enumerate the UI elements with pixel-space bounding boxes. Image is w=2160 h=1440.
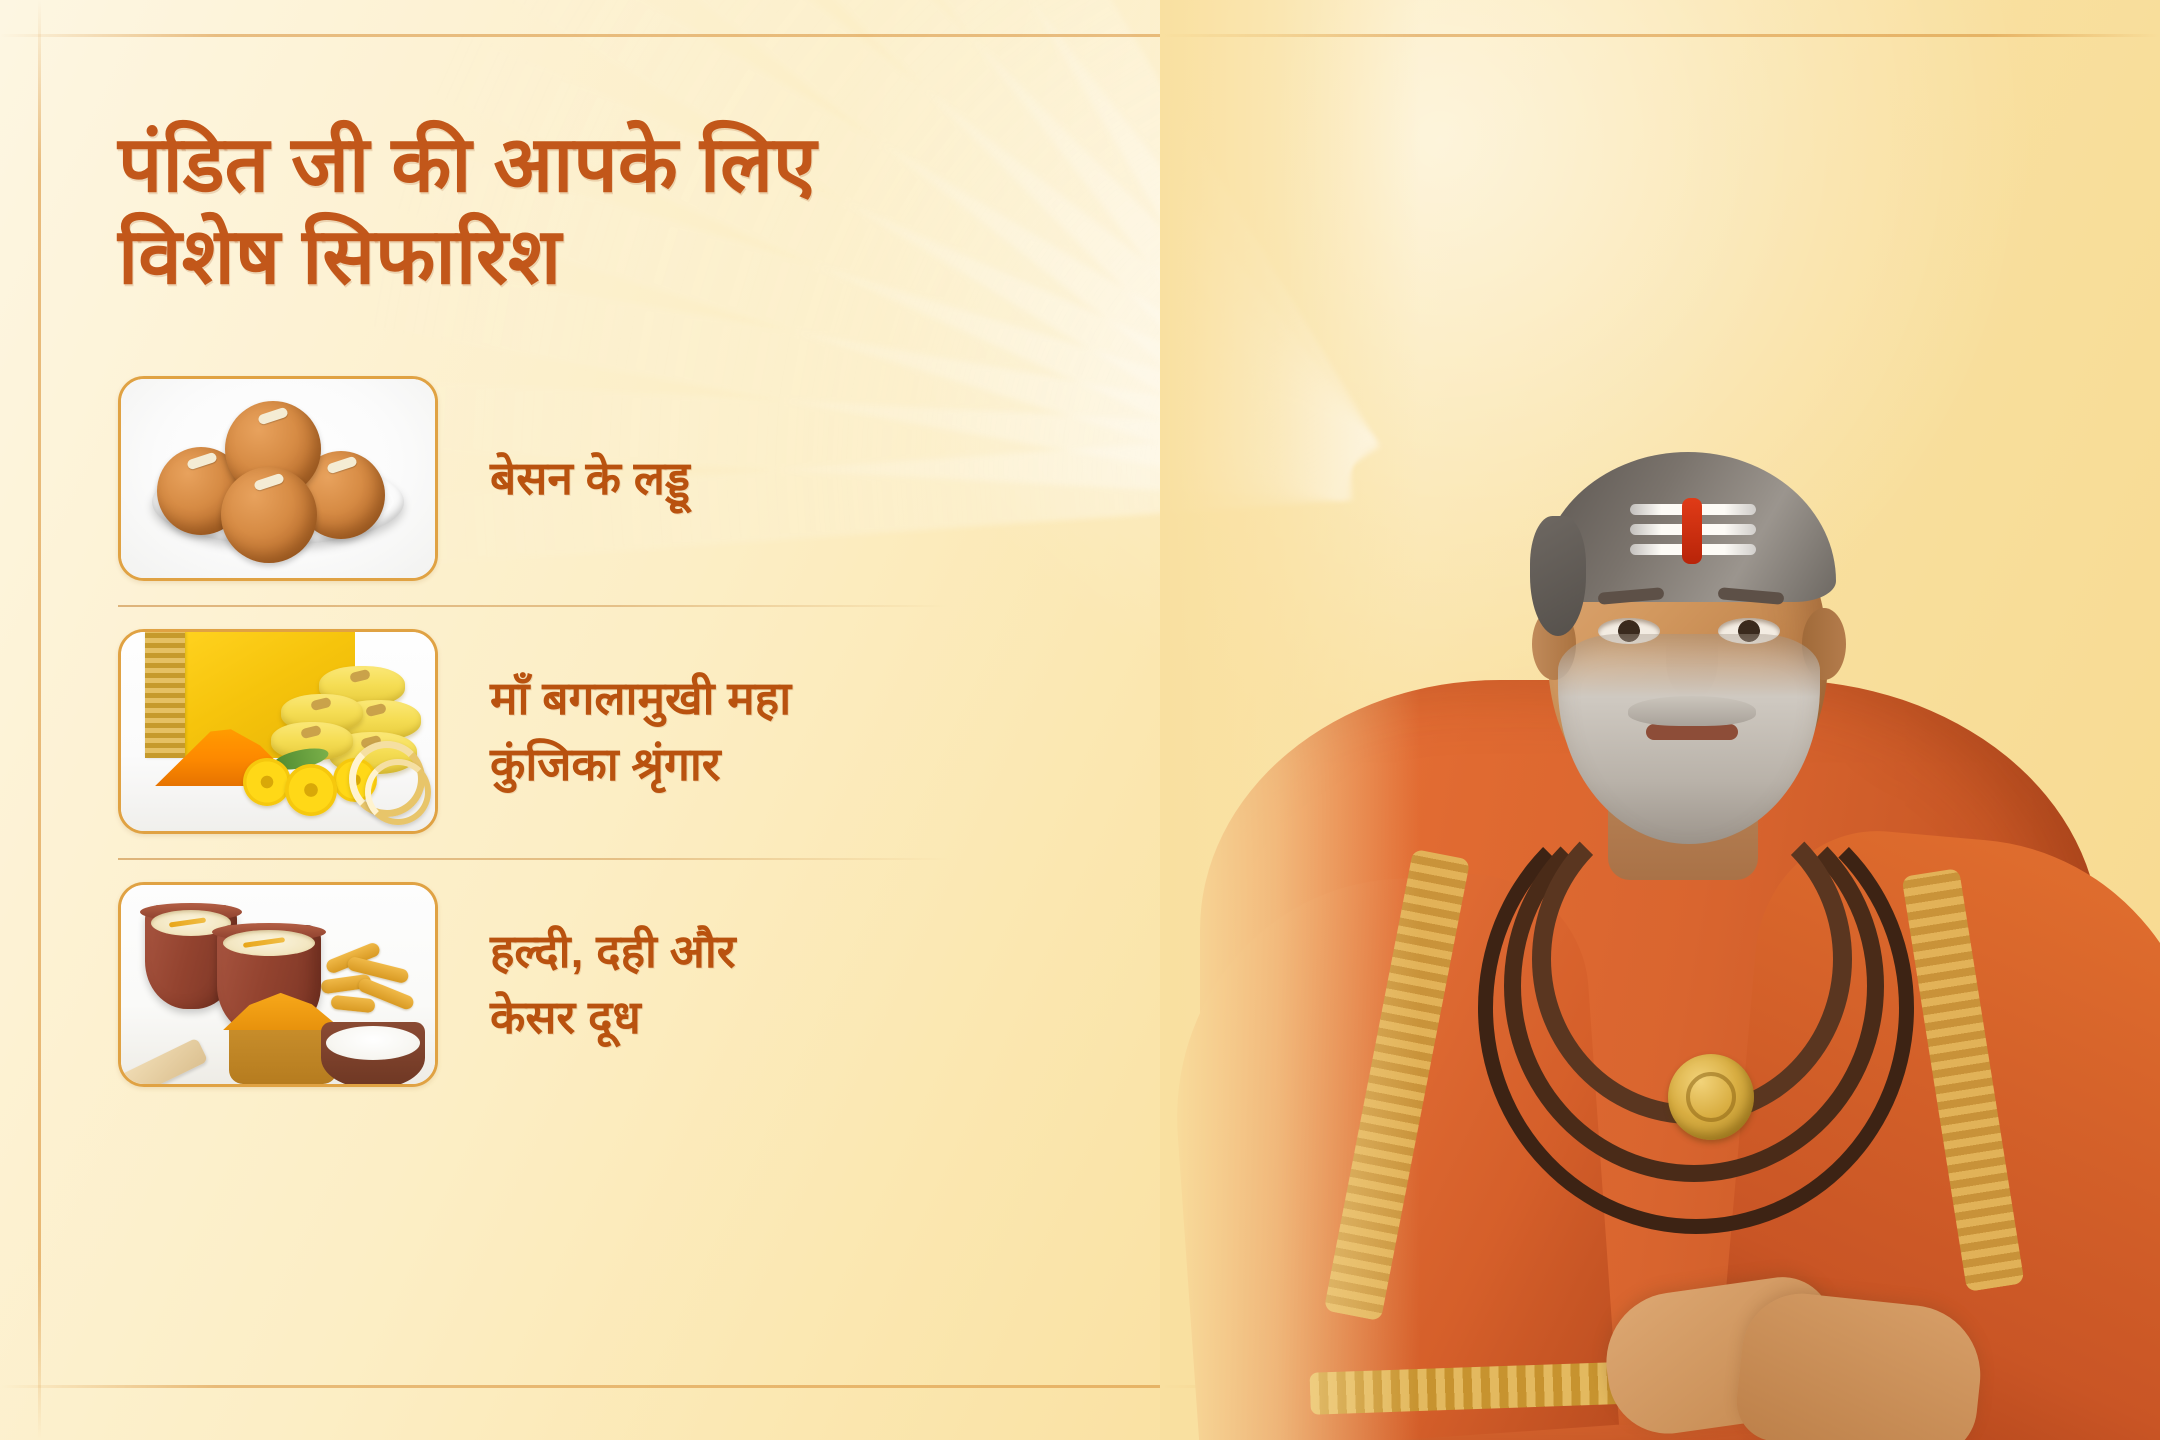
page-title-line-1: पंडित जी की आपके लिए <box>118 120 817 208</box>
tripundra-tilak-icon <box>1630 502 1756 568</box>
recommendation-list: बेसन के लड्डू <box>118 354 948 1111</box>
list-item-label-line-1: माँ बगलामुखी महा <box>490 666 791 731</box>
page-title-line-2: विशेष सिफारिश <box>118 210 1128 302</box>
rudraksha-mala-icon <box>1532 794 1852 1124</box>
list-item[interactable]: हल्दी, दही और केसर दूध <box>118 860 948 1111</box>
list-item[interactable]: माँ बगलामुखी महा कुंजिका श्रृंगार <box>118 607 948 858</box>
list-item-label-line-2: कुंजिका श्रृंगार <box>490 732 791 797</box>
page-title: पंडित जी की आपके लिए विशेष सिफारिश <box>118 118 1128 302</box>
list-item-label-line-2: केसर दूध <box>490 985 736 1050</box>
list-item-label: बेसन के लड्डू <box>490 446 690 511</box>
recommendation-banner: पंडित जी की आपके लिए विशेष सिफारिश बेसन … <box>0 0 2160 1440</box>
haldi-dahi-kesar-doodh-photo <box>118 882 438 1087</box>
bagalamukhi-shringar-photo <box>118 629 438 834</box>
list-item[interactable]: बेसन के लड्डू <box>118 354 948 605</box>
top-rule <box>0 34 2160 37</box>
rudraksha-mala-icon <box>1478 782 1914 1234</box>
left-rule <box>38 0 41 1440</box>
pandit-ji-portrait <box>1160 0 2160 1440</box>
content-column: पंडित जी की आपके लिए विशेष सिफारिश बेसन … <box>118 118 1128 1111</box>
list-item-label-line-1: हल्दी, दही और <box>490 919 736 984</box>
bottom-rule <box>0 1385 2160 1388</box>
rudraksha-mala-icon <box>1504 790 1884 1182</box>
list-item-label: माँ बगलामुखी महा कुंजिका श्रृंगार <box>490 666 791 797</box>
besan-laddu-photo <box>118 376 438 581</box>
mala-pendant-icon <box>1668 1054 1754 1140</box>
list-item-label: हल्दी, दही और केसर दूध <box>490 919 736 1050</box>
